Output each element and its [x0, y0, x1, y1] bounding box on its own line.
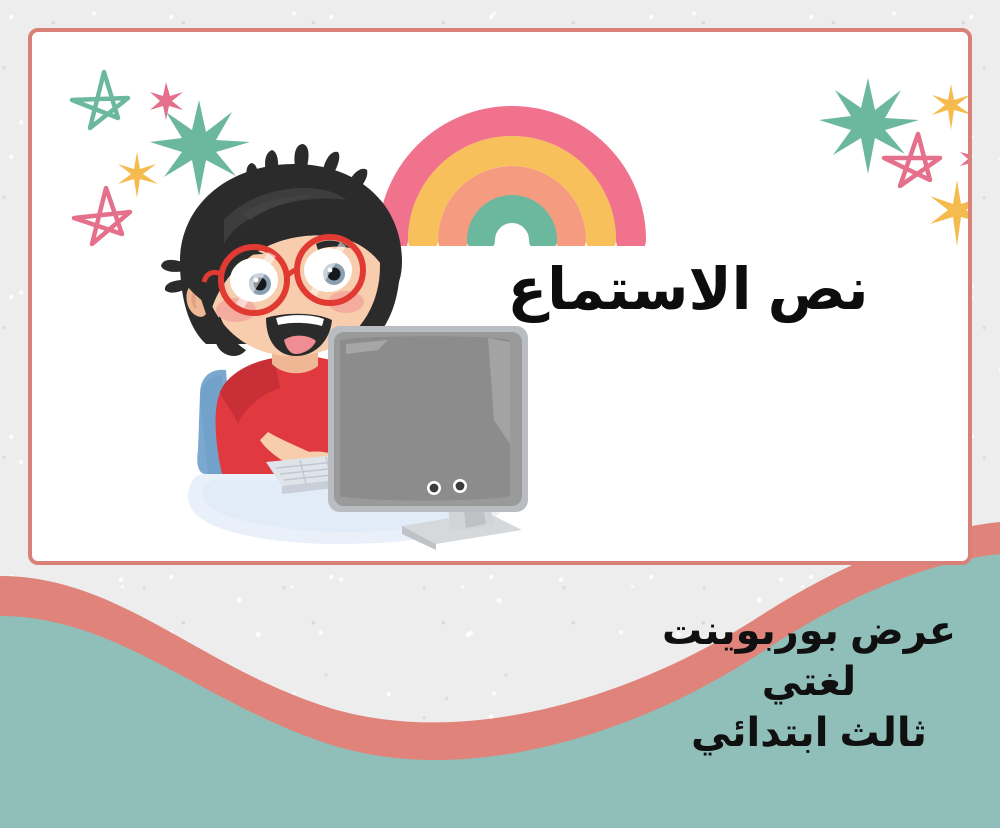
content-card: نص الاستماع	[28, 28, 972, 565]
star-outline-pink-icon	[74, 188, 130, 244]
caption-line-1: عرض بوربوينت	[644, 606, 974, 657]
boy-at-computer-illustration	[150, 144, 530, 554]
caption-line-2: لغتي	[644, 657, 974, 708]
slide-title: نص الاستماع	[468, 258, 908, 322]
sparkle-yellow-small-icon	[932, 84, 972, 130]
caption-line-3: ثالث ابتدائي	[644, 708, 974, 759]
sparkle-yellow-large-icon	[930, 180, 972, 246]
slide-canvas: نص الاستماع عرض بوربوينت لغتي ثالث ابتدا…	[0, 0, 1000, 828]
star-outline-teal-icon	[72, 72, 128, 128]
sparkle-pink-tiny-icon	[960, 144, 972, 176]
slide-caption: عرض بوربوينت لغتي ثالث ابتدائي	[644, 606, 974, 760]
sparkle-pink-small-icon	[150, 82, 183, 120]
stars-right-group	[818, 72, 972, 272]
